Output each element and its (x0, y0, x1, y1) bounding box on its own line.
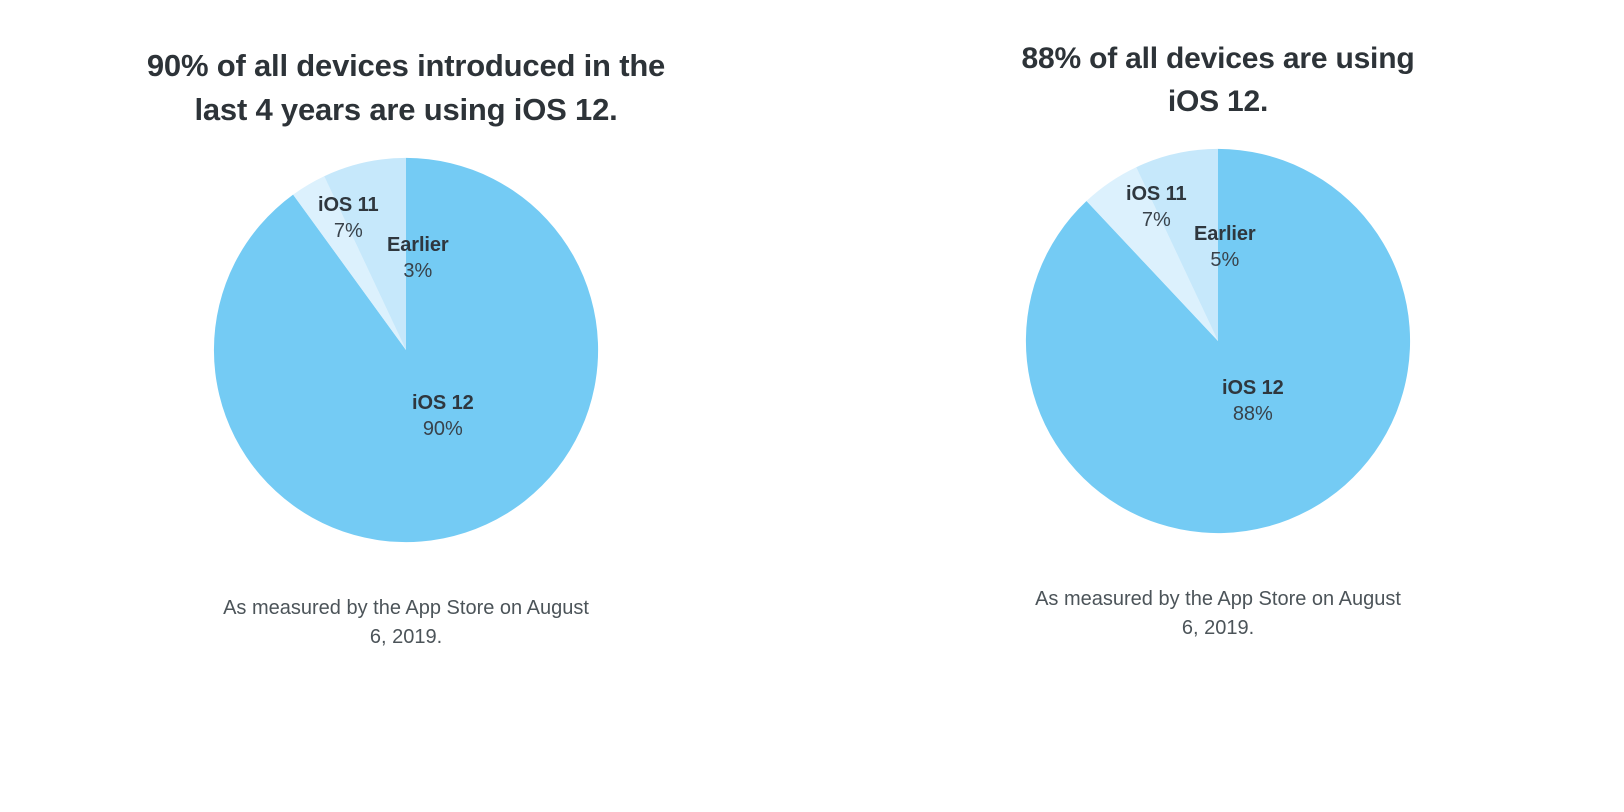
pie-chart-right-svg (1022, 145, 1414, 537)
chart-panel-all-devices: 88% of all devices are using iOS 12. iOS… (812, 0, 1624, 812)
pie-chart-right: iOS 11 7% Earlier 5% iOS 12 88% (1022, 145, 1414, 537)
pie-chart-left: iOS 11 7% Earlier 3% iOS 12 90% (210, 154, 602, 546)
chart-footnote-left: As measured by the App Store on August 6… (216, 594, 596, 652)
pie-charts-board: 90% of all devices introduced in the las… (0, 0, 1624, 812)
chart-footnote-right: As measured by the App Store on August 6… (1028, 585, 1408, 643)
pie-slice-ios12-left[interactable] (214, 158, 598, 542)
page-title-left: 90% of all devices introduced in the las… (136, 44, 676, 132)
pie-chart-left-svg (210, 154, 602, 546)
page-title-right: 88% of all devices are using iOS 12. (1003, 38, 1433, 123)
chart-panel-devices-last-4-years: 90% of all devices introduced in the las… (0, 0, 812, 812)
